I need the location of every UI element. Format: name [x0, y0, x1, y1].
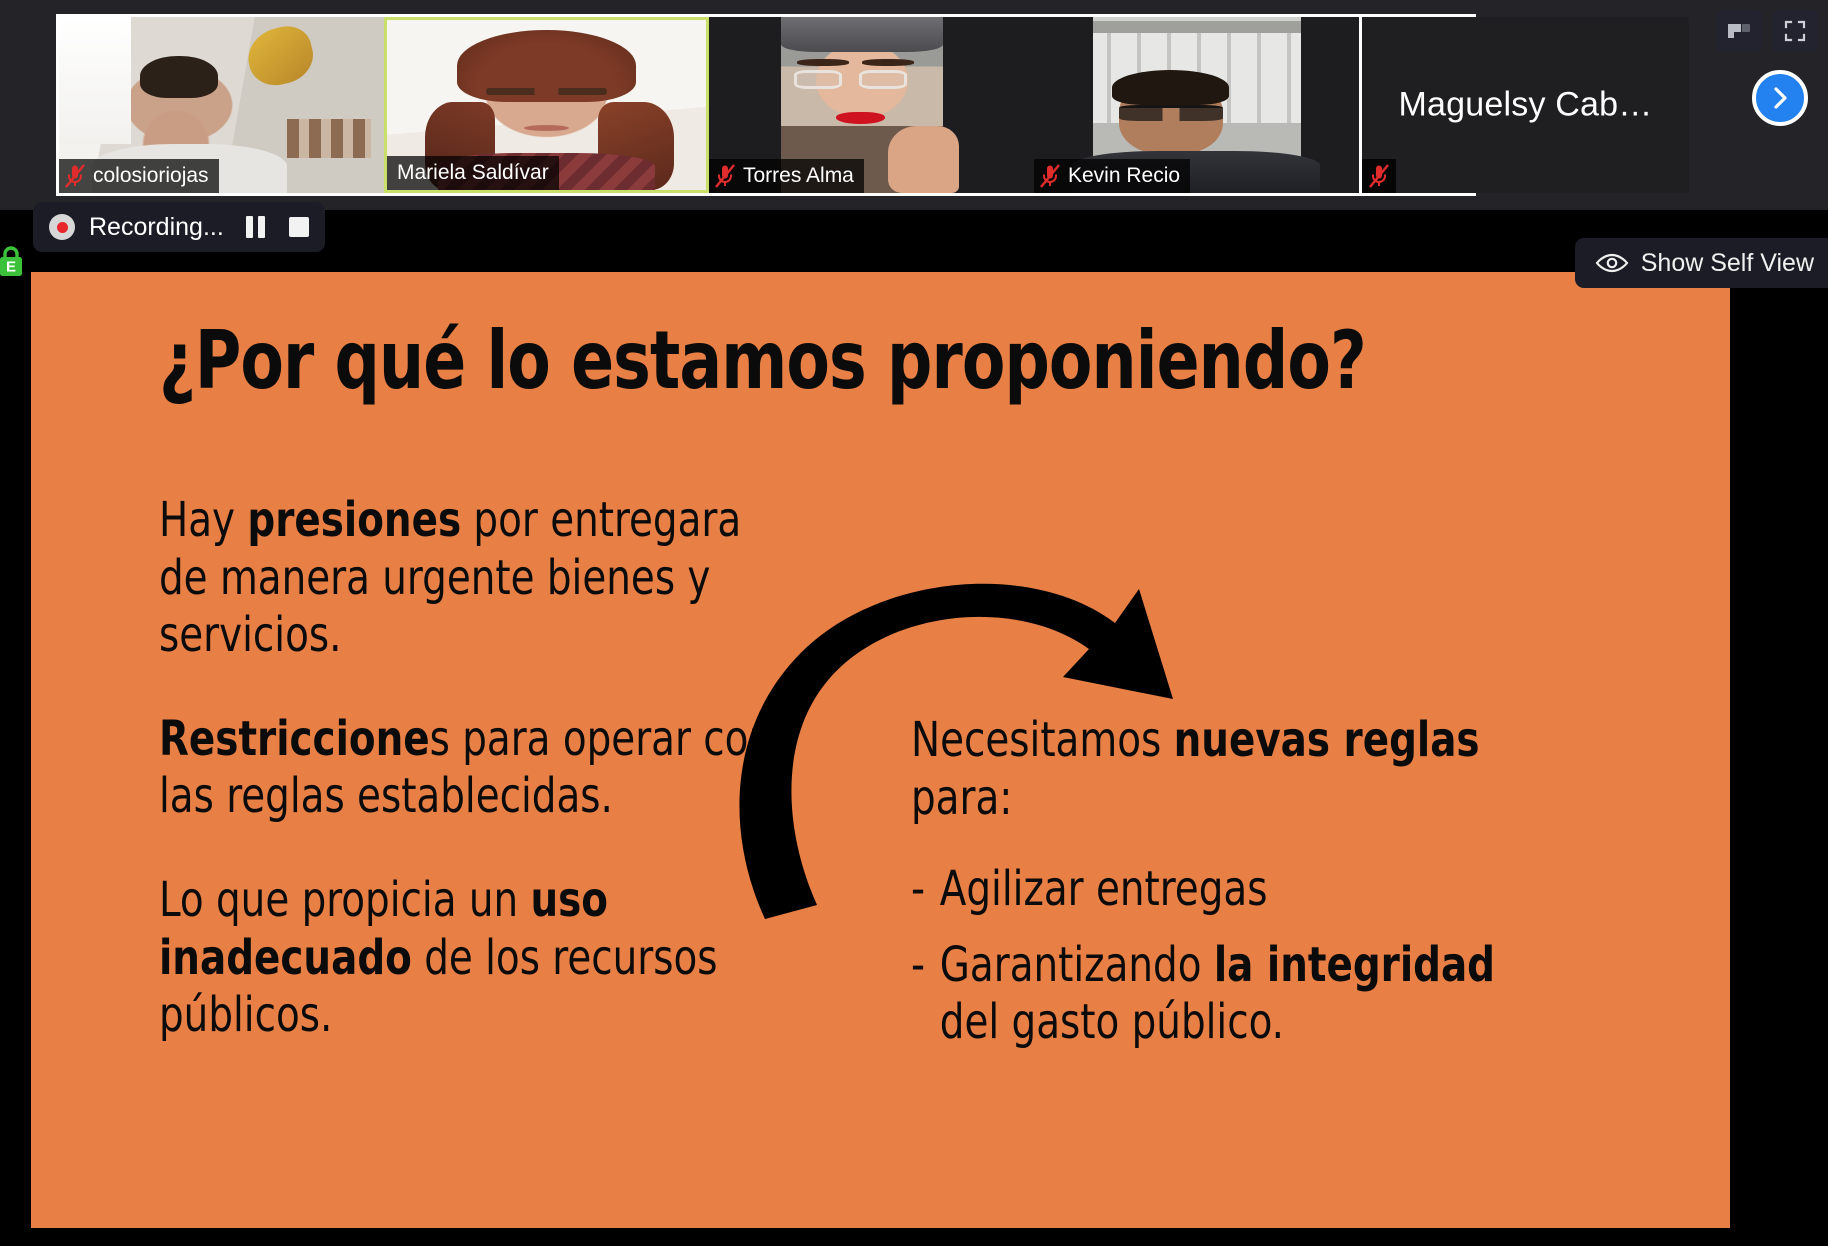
mic-muted-icon: [713, 163, 737, 189]
recording-status-label: Recording...: [89, 213, 224, 242]
participant-name-badge: Kevin Recio: [1034, 159, 1190, 193]
participant-name-badge: Torres Alma: [709, 159, 864, 193]
participant-name: Torres Alma: [743, 164, 854, 188]
chevron-right-icon: [1768, 84, 1792, 112]
window-controls: [1716, 10, 1818, 52]
participant-name: Mariela Saldívar: [397, 161, 549, 185]
participant-tile-torres-alma[interactable]: Torres Alma: [709, 17, 1034, 193]
bullet-dash: -: [911, 861, 940, 919]
slide-paragraph-2: Restricciones para operar con las reglas…: [159, 711, 789, 826]
bullet-text: Agilizar entregas: [940, 861, 1268, 919]
slide-left-column: Hay presiones por entregara de manera ur…: [159, 492, 859, 1091]
participant-name-badge: colosioriojas: [59, 159, 219, 193]
view-layout-icon: [1726, 20, 1752, 42]
mic-muted-icon: [1367, 163, 1391, 189]
participant-tile-maguelsy-cab[interactable]: Maguelsy Cab…: [1359, 17, 1689, 193]
participant-mute-indicator: [1362, 159, 1396, 193]
slide-paragraph-3: Lo que propicia un uso inadecuado de los…: [159, 872, 789, 1045]
text-bold: la integridad: [1214, 937, 1495, 993]
text-plain: Necesitamos: [911, 712, 1174, 768]
participant-name-badge: Mariela Saldívar: [387, 156, 559, 190]
text-bold: Restriccione: [159, 711, 430, 767]
participant-name: Kevin Recio: [1068, 164, 1180, 188]
text-plain: Garantizando: [940, 937, 1214, 993]
pause-recording-button[interactable]: [246, 216, 265, 238]
text-bold: nuevas reglas: [1174, 712, 1480, 768]
fullscreen-button[interactable]: [1772, 10, 1818, 52]
bottom-letterbox: [0, 1228, 1828, 1246]
slide-right-intro: Necesitamos nuevas reglas para:: [911, 712, 1541, 827]
slide-paragraph-1: Hay presiones por entregara de manera ur…: [159, 492, 789, 665]
slide-bullet-list: - Agilizar entregas - Garantizando la in…: [911, 861, 1611, 1052]
text-bold: presiones: [247, 492, 461, 548]
fullscreen-icon: [1783, 19, 1807, 43]
encryption-lock-icon[interactable]: E: [0, 243, 26, 277]
view-layout-button[interactable]: [1716, 10, 1762, 52]
mic-muted-icon: [63, 163, 87, 189]
participant-tile-mariela-saldivar[interactable]: Mariela Saldívar: [384, 17, 709, 193]
slide-bullet-item: - Garantizando la integridad del gasto p…: [911, 937, 1541, 1052]
show-self-view-button[interactable]: Show Self View: [1575, 238, 1828, 288]
bullet-text: Garantizando la integridad del gasto púb…: [940, 937, 1541, 1052]
text-plain: para:: [911, 770, 1012, 826]
participant-filmstrip: colosioriojas Mariela Saldívar: [56, 14, 1476, 196]
participant-tile-kevin-recio[interactable]: Kevin Recio: [1034, 17, 1359, 193]
mic-muted-icon: [1038, 163, 1062, 189]
slide-bullet-item: - Agilizar entregas: [911, 861, 1541, 919]
text-plain: Hay: [159, 492, 247, 548]
bullet-dash: -: [911, 937, 940, 1052]
text-plain: Agilizar entregas: [940, 861, 1268, 917]
zoom-meeting-window: colosioriojas Mariela Saldívar: [0, 0, 1828, 1246]
participant-name: Maguelsy Cab…: [1362, 86, 1689, 125]
recording-indicator: Recording...: [33, 202, 325, 252]
stop-recording-button[interactable]: [289, 217, 309, 237]
lock-icon: E: [0, 243, 26, 277]
text-plain: del gasto público.: [940, 994, 1284, 1050]
slide-title: ¿Por qué lo estamos proponiendo?: [159, 314, 1366, 407]
recording-dot-icon: [49, 214, 75, 240]
eye-icon: [1595, 252, 1629, 274]
text-plain: Lo que propicia un: [159, 872, 530, 928]
svg-text:E: E: [6, 259, 16, 276]
participant-tile-colosioriojas[interactable]: colosioriojas: [59, 17, 384, 193]
shared-screen-slide[interactable]: ¿Por qué lo estamos proponiendo? Hay pre…: [31, 272, 1730, 1228]
show-self-view-label: Show Self View: [1641, 249, 1814, 278]
next-participants-button[interactable]: [1752, 70, 1808, 126]
participant-name: colosioriojas: [93, 164, 209, 188]
slide-right-column: Necesitamos nuevas reglas para: - Agiliz…: [911, 712, 1611, 1070]
filmstrip-bar: colosioriojas Mariela Saldívar: [0, 0, 1828, 210]
